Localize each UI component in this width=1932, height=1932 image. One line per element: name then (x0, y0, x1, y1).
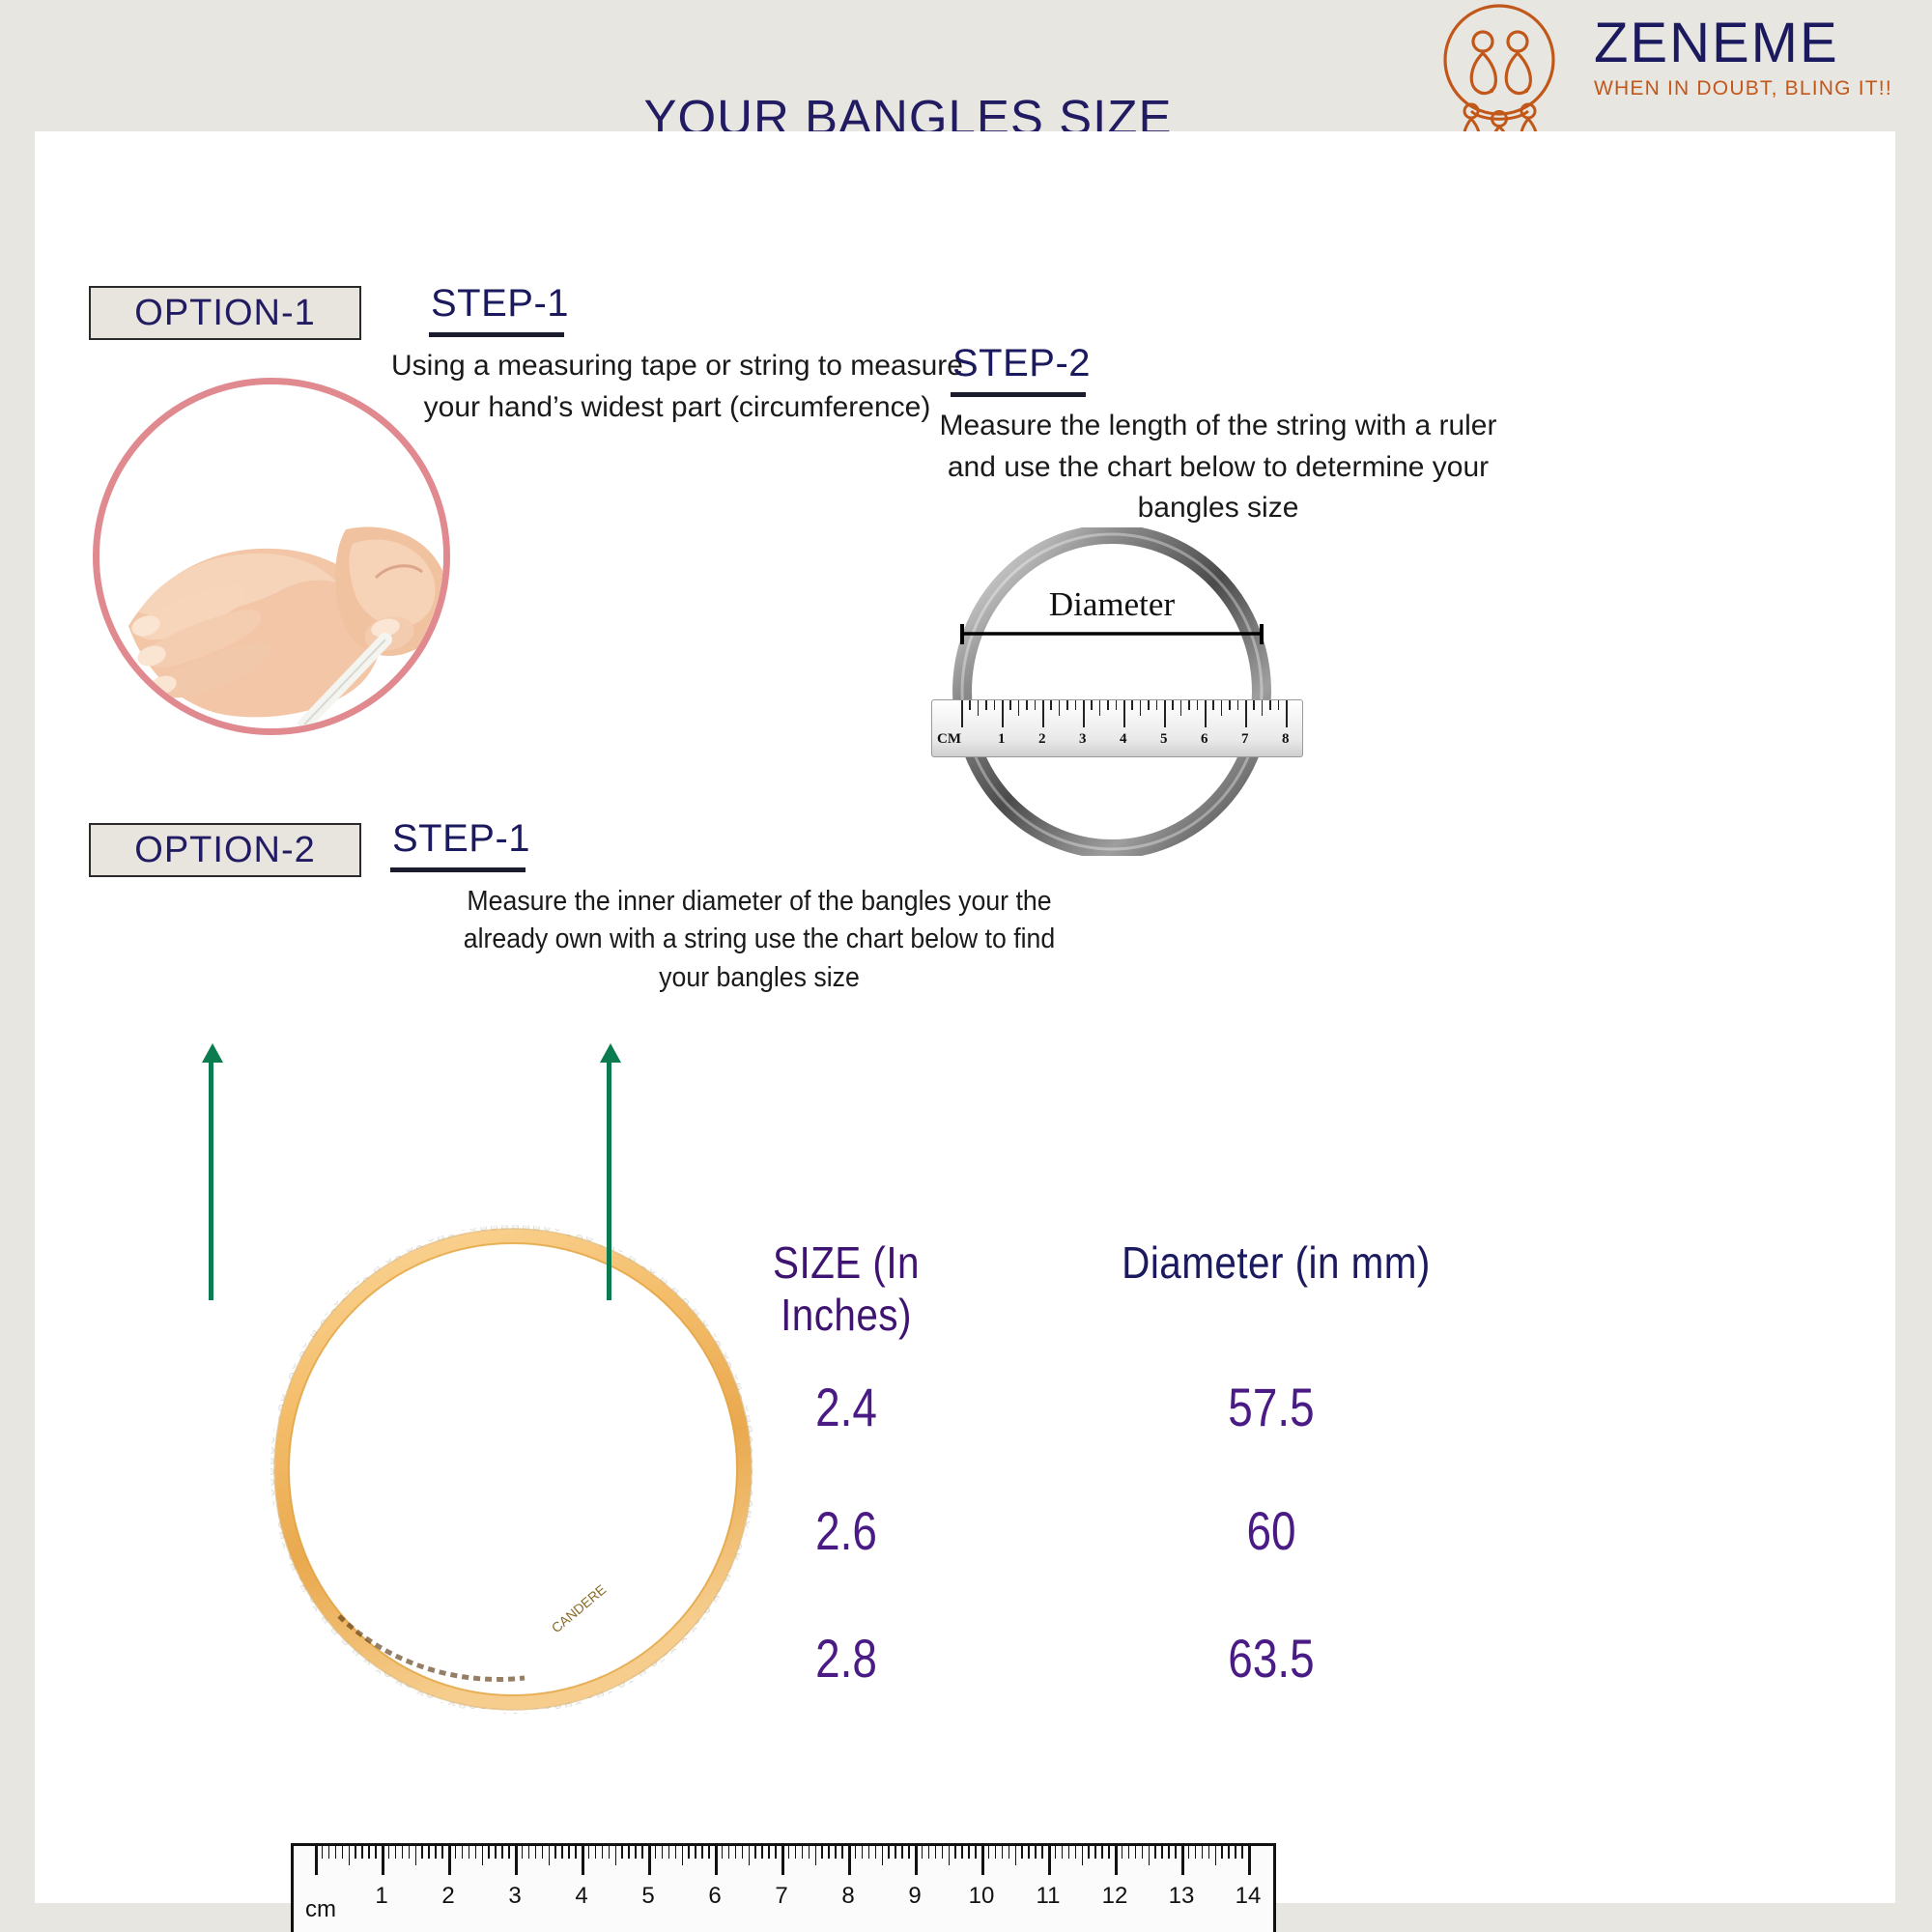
ruler-cm-tick (809, 1846, 810, 1859)
ruler-cm-tick (655, 1846, 657, 1859)
ruler-cm-tick (615, 1846, 617, 1865)
option-1-chip: OPTION-1 (89, 286, 361, 340)
ruler-cm-tick (501, 1846, 503, 1859)
ruler-cm-tick (908, 1846, 910, 1859)
mini-ruler-number: 2 (1038, 731, 1046, 748)
option1-step2-heading: STEP-2 (952, 342, 1091, 385)
ruler-cm-tick (528, 1846, 530, 1859)
ruler-cm-tick (815, 1846, 817, 1865)
mini-ruler-unit-label: CM (937, 731, 961, 748)
ruler-cm-tick (828, 1846, 830, 1859)
ruler-cm-tick (462, 1846, 464, 1859)
ruler-cm-tick (1015, 1846, 1017, 1865)
ruler-cm-tick (375, 1846, 377, 1859)
mini-ruler-tick (1278, 700, 1280, 710)
ruler-cm-tick (775, 1846, 777, 1859)
ruler-cm-tick (1122, 1846, 1123, 1859)
mini-ruler-tick (1075, 700, 1077, 710)
brand-logo: ZENEME WHEN IN DOUBT, BLING IT!! (1428, 2, 1911, 147)
ruler-cm-tick (728, 1846, 730, 1859)
ruler-cm-tick (922, 1846, 923, 1859)
ruler-cm-tick (595, 1846, 597, 1859)
ruler-cm-tick (482, 1846, 484, 1865)
ruler-cm-tick (754, 1846, 756, 1859)
mini-ruler-number: 5 (1160, 731, 1168, 748)
ruler-cm-tick (1175, 1846, 1177, 1859)
ruler-cm-tick (682, 1846, 684, 1865)
ruler-cm-tick (1115, 1846, 1118, 1875)
mini-ruler-tick (1188, 700, 1190, 710)
ruler-cm-number: 13 (1169, 1883, 1195, 1910)
mini-ruler-tick (1116, 700, 1118, 710)
ruler-cm-tick (995, 1846, 997, 1859)
ruler-cm-tick (322, 1846, 324, 1859)
ruler-cm-tick (875, 1846, 877, 1859)
ruler-cm-tick (942, 1846, 944, 1859)
ruler-cm-tick (1088, 1846, 1090, 1859)
ruler-cm-tick (602, 1846, 604, 1859)
ruler-cm-tick (1188, 1846, 1190, 1859)
ruler-cm-tick (742, 1846, 744, 1859)
ruler-cm-tick (455, 1846, 457, 1859)
ruler-cm-tick (1161, 1846, 1163, 1859)
ruler-cm-tick (768, 1846, 770, 1859)
ruler-cm-tick (1128, 1846, 1130, 1859)
ruler-cm-tick (1149, 1846, 1151, 1865)
ruler-cm-tick (582, 1846, 584, 1875)
ruler-cm-tick (988, 1846, 990, 1859)
ruler-cm-tick (361, 1846, 363, 1859)
ruler-cm-tick (382, 1846, 384, 1875)
mini-ruler-tick (1131, 700, 1133, 710)
option1-step1-body: Using a measuring tape or string to meas… (383, 346, 972, 428)
ruler-cm-tick (561, 1846, 563, 1859)
mini-ruler-tick (1083, 700, 1085, 727)
ruler-cm-tick (554, 1846, 556, 1859)
ruler-cm-tick (862, 1846, 864, 1859)
ruler-cm-tick (1075, 1846, 1077, 1859)
ruler-cm-tick (355, 1846, 356, 1859)
ruler-cm-tick (535, 1846, 537, 1859)
ruler-cm-tick (882, 1846, 884, 1865)
mini-ruler-tick (1229, 700, 1231, 710)
ruler-cm-tick (328, 1846, 330, 1859)
mini-ruler-tick (1002, 700, 1004, 727)
ruler-cm-tick (1235, 1846, 1236, 1859)
ruler-cm-tick (1142, 1846, 1144, 1859)
ruler-cm-tick (975, 1846, 977, 1859)
ruler-cm-number: 9 (908, 1883, 921, 1910)
ruler-cm-tick (1021, 1846, 1023, 1859)
mini-ruler-tick (1197, 700, 1199, 710)
mini-ruler-tick (1172, 700, 1174, 710)
ruler-cm-number: 7 (775, 1883, 787, 1910)
ruler-cm-tick (761, 1846, 763, 1859)
mini-ruler-tick (1148, 700, 1150, 710)
option1-step2-underline (951, 392, 1086, 397)
table-cell-diameter-1: 60 (1137, 1499, 1406, 1562)
ruler-cm-tick (641, 1846, 643, 1859)
ruler-cm-number: 11 (1037, 1883, 1061, 1910)
mini-ruler-tick (1035, 700, 1037, 710)
ruler-cm-tick (701, 1846, 703, 1859)
bottom-ruler: cm inches 123456789101112131412345 (291, 1843, 1276, 1932)
ruler-cm-tick (621, 1846, 623, 1859)
brand-tagline: WHEN IN DOUBT, BLING IT!! (1594, 77, 1892, 100)
mini-ruler-tick (969, 700, 971, 710)
mini-ruler-tick (1269, 700, 1271, 710)
table-cell-size-0: 2.4 (727, 1376, 965, 1438)
ruler-cm-tick (575, 1846, 577, 1859)
mini-ruler-number: 8 (1282, 731, 1290, 748)
ruler-cm-tick (795, 1846, 797, 1859)
ruler-cm-tick (609, 1846, 611, 1859)
ruler-cm-tick (675, 1846, 677, 1859)
column-header-size: SIZE (In Inches) (701, 1236, 990, 1341)
ruler-cm-tick (488, 1846, 490, 1859)
ruler-cm-tick (935, 1846, 937, 1859)
svg-text:CANDERE: CANDERE (549, 1581, 610, 1635)
ruler-cm-tick (1248, 1846, 1251, 1875)
ruler-cm-tick (895, 1846, 896, 1859)
option2-step1-underline (390, 867, 526, 872)
ruler-cm-tick (802, 1846, 804, 1859)
mini-ruler-tick (1091, 700, 1093, 710)
ruler-cm-tick (695, 1846, 696, 1859)
table-cell-size-2: 2.8 (727, 1627, 965, 1690)
mini-ruler-tick (1026, 700, 1028, 710)
ruler-cm-tick (1068, 1846, 1070, 1859)
option2-step1-body: Measure the inner diameter of the bangle… (457, 883, 1062, 997)
ruler-cm-tick (1108, 1846, 1110, 1859)
ruler-cm-tick (841, 1846, 843, 1859)
ruler-cm-number: 12 (1102, 1883, 1128, 1910)
mini-ruler-tick (1205, 700, 1207, 727)
ruler-cm-tick (949, 1846, 951, 1865)
ruler-cm-number: 3 (508, 1883, 521, 1910)
ruler-cm-tick (749, 1846, 751, 1865)
ruler-cm-tick (915, 1846, 918, 1875)
table-cell-diameter-2: 63.5 (1137, 1627, 1406, 1690)
mini-ruler-tick (1180, 700, 1182, 716)
mini-ruler-number: 1 (998, 731, 1006, 748)
column-header-diameter: Diameter (in mm) (1115, 1236, 1437, 1289)
mini-ruler-tick (1009, 700, 1011, 710)
ruler-cm-tick (1228, 1846, 1230, 1859)
ruler-cm-tick (1035, 1846, 1037, 1859)
ruler-cm-tick (588, 1846, 590, 1859)
ruler-cm-tick (1002, 1846, 1004, 1859)
ruler-cm-tick (668, 1846, 670, 1859)
ruler-cm-tick (735, 1846, 737, 1859)
ruler-cm-tick (469, 1846, 470, 1859)
ruler-cm-number: 8 (841, 1883, 854, 1910)
bangle-right-arrow-line (607, 1059, 611, 1300)
ruler-cm-tick (961, 1846, 963, 1859)
ruler-cm-number: 10 (969, 1883, 995, 1910)
ruler-cm-tick (1208, 1846, 1210, 1859)
ruler-cm-tick (368, 1846, 370, 1859)
ruler-cm-tick (781, 1846, 784, 1875)
ruler-cm-tick (928, 1846, 930, 1859)
ruler-cm-tick (821, 1846, 823, 1859)
ruler-cm-tick (428, 1846, 430, 1859)
ruler-cm-tick (435, 1846, 437, 1859)
mini-ruler-tick (1212, 700, 1214, 710)
mini-ruler-tick (1123, 700, 1125, 727)
ruler-cm-tick (1168, 1846, 1170, 1859)
mini-ruler-tick (1253, 700, 1255, 710)
option-2-chip: OPTION-2 (89, 823, 361, 877)
ruler-cm-number: 2 (441, 1883, 454, 1910)
ruler-cm-tick (542, 1846, 544, 1859)
ruler-cm-tick (1082, 1846, 1084, 1865)
mini-ruler-number: 3 (1079, 731, 1087, 748)
ruler-cm-tick (421, 1846, 423, 1859)
bangle-right-arrow-head (600, 1043, 621, 1063)
ruler-cm-tick (954, 1846, 956, 1859)
ruler-cm-tick (342, 1846, 344, 1859)
brand-name: ZENEME (1594, 15, 1892, 71)
ruler-cm-tick (848, 1846, 851, 1875)
option2-step1-heading: STEP-1 (392, 817, 530, 861)
mini-ruler-tick (1099, 700, 1101, 716)
bangle-diameter-diagram: Diameter CM12345678 (914, 527, 1310, 856)
ruler-cm-number: 5 (641, 1883, 654, 1910)
bangle-left-arrow-head (202, 1043, 223, 1063)
mini-ruler: CM12345678 (931, 699, 1303, 757)
mini-ruler-tick (1018, 700, 1020, 716)
ruler-cm-tick (515, 1846, 518, 1875)
ruler-cm-tick (1154, 1846, 1156, 1859)
mini-ruler-tick (978, 700, 980, 716)
mini-ruler-tick (985, 700, 987, 710)
mini-ruler-tick (1237, 700, 1239, 710)
content-card: OPTION-1 STEP-1 Using a measuring tape o… (35, 131, 1895, 1903)
ruler-cm-unit-label: cm (305, 1896, 336, 1923)
ruler-cm-tick (868, 1846, 870, 1859)
mini-ruler-tick (1059, 700, 1061, 716)
ruler-cm-tick (1101, 1846, 1103, 1859)
ruler-cm-tick (888, 1846, 890, 1859)
ruler-cm-tick (662, 1846, 664, 1859)
ruler-cm-tick (441, 1846, 443, 1859)
mini-ruler-number: 7 (1241, 731, 1249, 748)
ruler-cm-tick (1041, 1846, 1043, 1859)
ruler-cm-tick (708, 1846, 710, 1859)
bangles-size-guide-page: YOUR BANGLES SIZE (0, 0, 1932, 1932)
mini-ruler-number: 6 (1201, 731, 1208, 748)
ruler-cm-tick (1048, 1846, 1051, 1875)
mini-ruler-tick (1286, 700, 1288, 727)
ruler-cm-tick (1028, 1846, 1030, 1859)
mini-ruler-tick (1262, 700, 1264, 716)
mini-ruler-tick (1140, 700, 1142, 716)
table-cell-size-1: 2.6 (727, 1499, 965, 1562)
ruler-cm-tick (388, 1846, 390, 1859)
ruler-cm-tick (788, 1846, 790, 1859)
ruler-cm-number: 4 (575, 1883, 587, 1910)
ruler-cm-tick (715, 1846, 718, 1875)
bangle-left-arrow-line (209, 1059, 213, 1300)
mini-ruler-tick (961, 700, 963, 727)
mini-ruler-tick (1107, 700, 1109, 710)
ruler-cm-tick (1135, 1846, 1137, 1859)
hand-measure-photo (93, 378, 450, 735)
ruler-cm-tick (1221, 1846, 1223, 1859)
mini-ruler-tick (994, 700, 996, 710)
ruler-cm-tick (475, 1846, 477, 1859)
ruler-cm-tick (349, 1846, 351, 1865)
mini-ruler-tick (1050, 700, 1052, 710)
mini-ruler-tick (1042, 700, 1044, 727)
ruler-cm-tick (395, 1846, 397, 1859)
ruler-cm-tick (855, 1846, 857, 1859)
option1-step2-body: Measure the length of the string with a … (933, 406, 1503, 529)
ruler-cm-tick (635, 1846, 637, 1859)
mini-ruler-number: 4 (1120, 731, 1127, 748)
ruler-cm-tick (835, 1846, 837, 1859)
ruler-cm-tick (1215, 1846, 1217, 1865)
ruler-cm-tick (688, 1846, 690, 1859)
mini-ruler-tick (1245, 700, 1247, 727)
ruler-cm-tick (495, 1846, 497, 1859)
ruler-cm-tick (968, 1846, 970, 1859)
ruler-cm-tick (722, 1846, 724, 1859)
ruler-cm-tick (549, 1846, 551, 1865)
ruler-cm-tick (1202, 1846, 1204, 1859)
ruler-cm-tick (1062, 1846, 1064, 1859)
option1-step1-heading: STEP-1 (431, 282, 569, 326)
ruler-cm-tick (981, 1846, 984, 1875)
ruler-cm-tick (1181, 1846, 1184, 1875)
ruler-cm-tick (1055, 1846, 1057, 1859)
ruler-cm-tick (1009, 1846, 1010, 1859)
ruler-cm-tick (409, 1846, 411, 1859)
ruler-cm-tick (402, 1846, 404, 1859)
ruler-cm-tick (901, 1846, 903, 1859)
mini-ruler-tick (1221, 700, 1223, 716)
option1-step1-underline (429, 332, 564, 337)
ruler-cm-number: 6 (708, 1883, 721, 1910)
ruler-cm-number: 1 (375, 1883, 387, 1910)
ruler-cm-number: 14 (1236, 1883, 1262, 1910)
mini-ruler-tick (1066, 700, 1068, 710)
ruler-cm-tick (508, 1846, 510, 1859)
ruler-cm-tick (415, 1846, 417, 1865)
ruler-cm-tick (568, 1846, 570, 1859)
ruler-cm-tick (1241, 1846, 1243, 1859)
ruler-cm-tick (335, 1846, 337, 1859)
ruler-cm-tick (628, 1846, 630, 1859)
ruler-cm-tick (1094, 1846, 1096, 1859)
ruler-cm-tick (315, 1846, 318, 1875)
ruler-cm-tick (522, 1846, 524, 1859)
earrings-necklace-icon (1428, 2, 1582, 147)
ruler-cm-tick (1195, 1846, 1197, 1859)
ruler-cm-tick (648, 1846, 651, 1875)
brand-text: ZENEME WHEN IN DOUBT, BLING IT!! (1594, 15, 1892, 100)
ruler-cm-tick (448, 1846, 451, 1875)
mini-ruler-tick (1156, 700, 1158, 710)
mini-ruler-tick (1164, 700, 1166, 727)
table-cell-diameter-0: 57.5 (1137, 1376, 1406, 1438)
